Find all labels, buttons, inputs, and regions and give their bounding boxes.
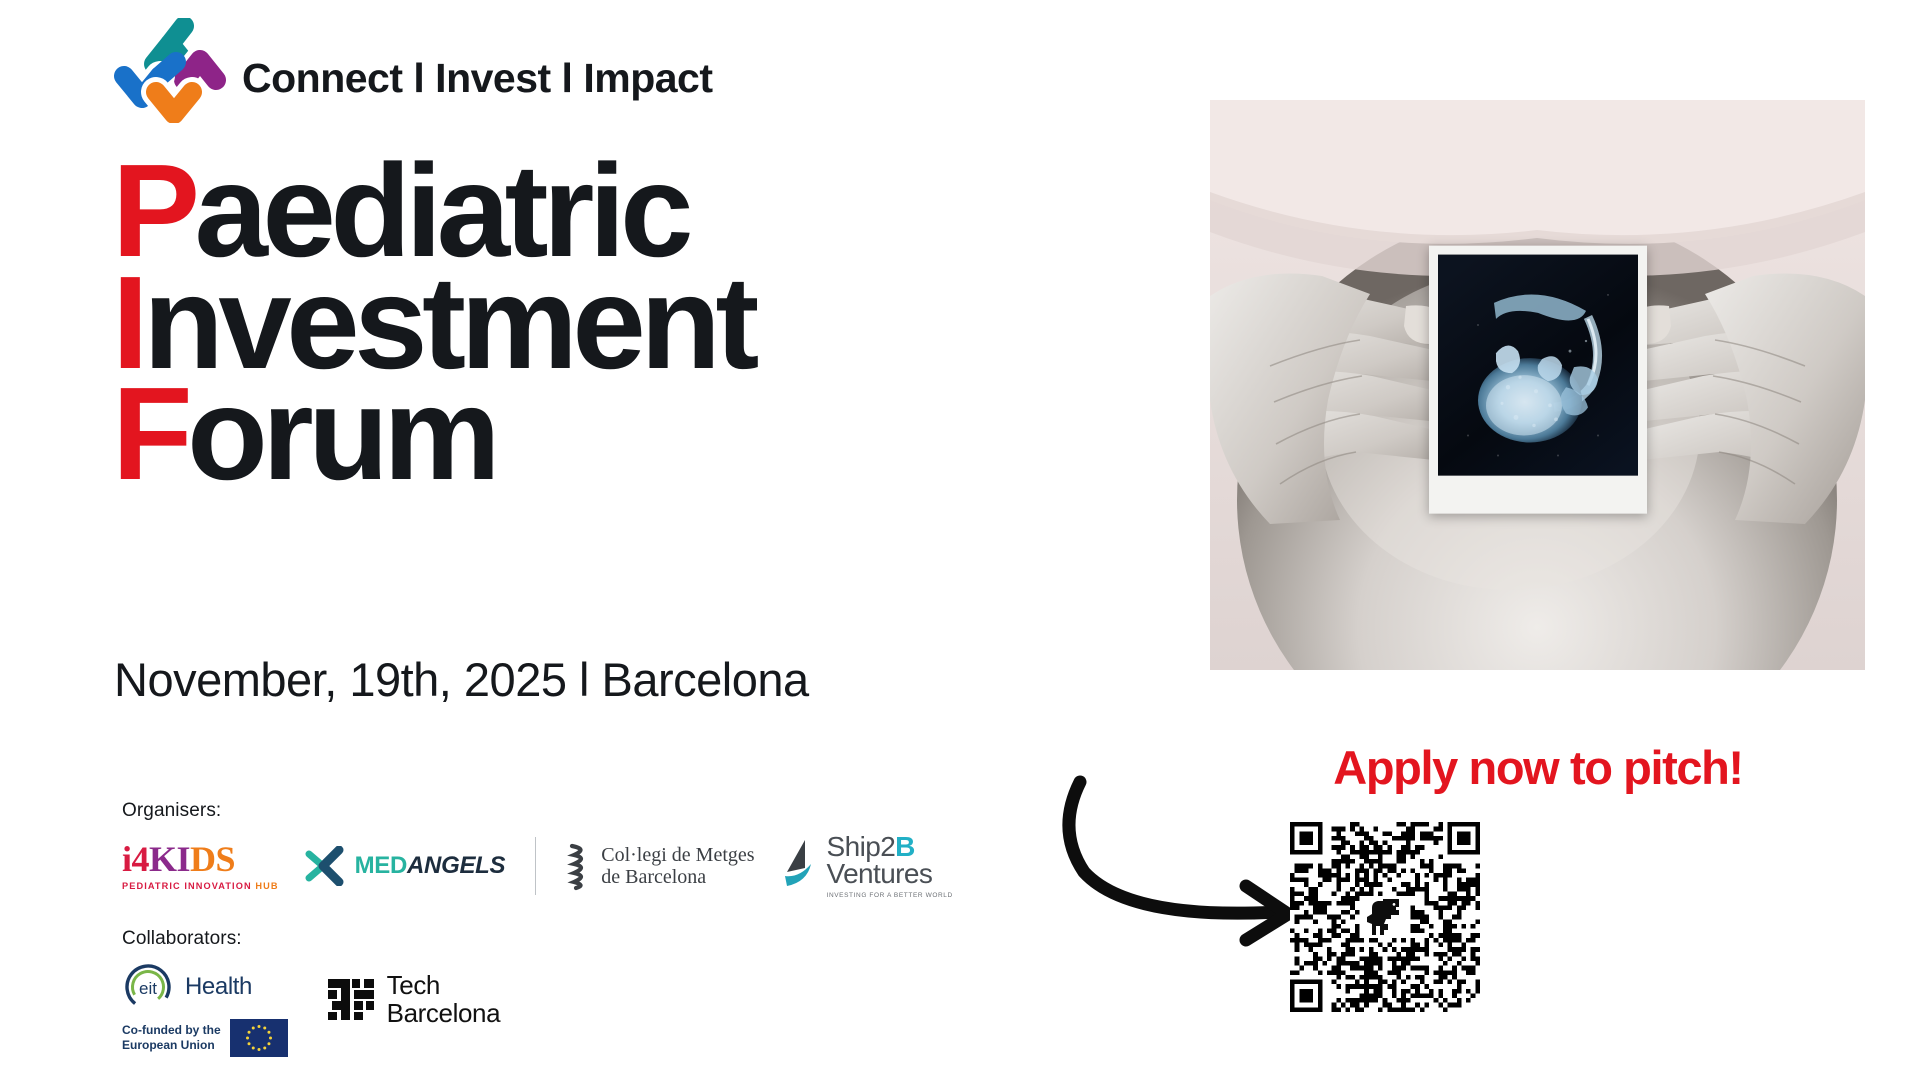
medangels-chevron-icon [305,846,351,886]
i4kids-tagline-a: PEDIATRIC INNOVATION [122,881,252,891]
eit-health-row: eit Health [122,962,252,1012]
logo-divider [535,837,536,895]
eit-health-word: Health [185,973,252,1001]
i4kids-letters-ds: DS [190,839,235,879]
eu-line-1: Co-funded by the [122,1023,221,1038]
ultrasound-polaroid [1429,246,1647,514]
tech-barcelona-line-2: Barcelona [387,999,500,1027]
collaborators-label: Collaborators: [122,928,500,950]
logo-tech-barcelona: Tech Barcelona [326,962,500,1027]
brand-header: Connect l Invest l Impact [110,18,713,123]
tech-barcelona-line-1: Tech [387,971,500,999]
medangels-angels: ANGELS [407,852,505,879]
qr-code-icon[interactable] [1290,822,1480,1012]
tech-barcelona-wordmark: Tech Barcelona [387,971,500,1027]
i4kids-tagline: PEDIATRIC INNOVATION HUB [122,881,279,891]
medangels-wordmark: MEDANGELS [355,852,506,880]
eu-line-2: European Union [122,1038,221,1053]
collegi-line-1: Col·legi de Metges [601,844,754,867]
event-date-location: November, 19th, 2025 l Barcelona [114,652,809,707]
ship2b-sail-icon [781,838,821,894]
organisers-logo-row: i4KIDS PEDIATRIC INNOVATION HUB MEDANGEL… [122,834,953,899]
organisers-label: Organisers: [122,800,953,822]
eu-funding-row: Co-funded by the European Union [122,1019,288,1057]
tagline: Connect l Invest l Impact [242,42,713,99]
medangels-med: MED [355,852,407,879]
i4kids-wordmark: i4KIDS [122,841,235,877]
svg-text:eit: eit [139,979,157,998]
i4kids-letter-4: 4 [132,839,150,879]
i4kids-letters-ki: KI [149,839,190,879]
organisers-section: Organisers: i4KIDS PEDIATRIC INNOVATION … [122,800,953,899]
ship2b-line-2: Ventures [827,861,953,888]
right-content-column: Apply now to pitch! [1040,0,1920,1080]
logo-eit-health: eit Health Co-funded by the European Uni… [122,962,288,1057]
title-cap-f: F [112,360,187,507]
page-title: Paediatric Investment Forum [112,155,754,490]
collegi-line-2: de Barcelona [601,866,754,889]
hero-image [1210,100,1865,670]
logo-collegi-de-metges: Col·legi de Metges de Barcelona [566,840,754,892]
logo-medangels: MEDANGELS [305,846,506,886]
collaborators-section: Collaborators: eit Health Co-funded by t… [122,928,500,1057]
title-rest-3: orum [187,360,495,507]
ship2b-line-1: Ship2B [827,834,953,861]
pif-waves-logo-icon [110,18,228,123]
ultrasound-scan-image [1438,255,1638,476]
logo-i4kids: i4KIDS PEDIATRIC INNOVATION HUB [122,841,279,891]
eu-flag-icon [230,1019,288,1057]
left-content-column: Connect l Invest l Impact Paediatric Inv… [0,0,1040,1080]
tech-barcelona-mark-icon [326,975,376,1023]
eit-circle-icon: eit [122,962,178,1012]
ship2b-tagline: INVESTING FOR A BETTER WORLD [827,892,953,899]
dinosaur-icon [1361,897,1409,937]
collaborators-logo-row: eit Health Co-funded by the European Uni… [122,962,500,1057]
collegi-wordmark: Col·legi de Metges de Barcelona [601,844,754,889]
ship2b-wordmark: Ship2B Ventures INVESTING FOR A BETTER W… [827,834,953,899]
logo-ship2b-ventures: Ship2B Ventures INVESTING FOR A BETTER W… [781,834,953,899]
eu-funding-text: Co-funded by the European Union [122,1023,221,1052]
i4kids-tagline-b: HUB [255,881,278,891]
i4kids-letter-i: i [122,839,132,879]
collegi-snake-icon [566,840,592,892]
